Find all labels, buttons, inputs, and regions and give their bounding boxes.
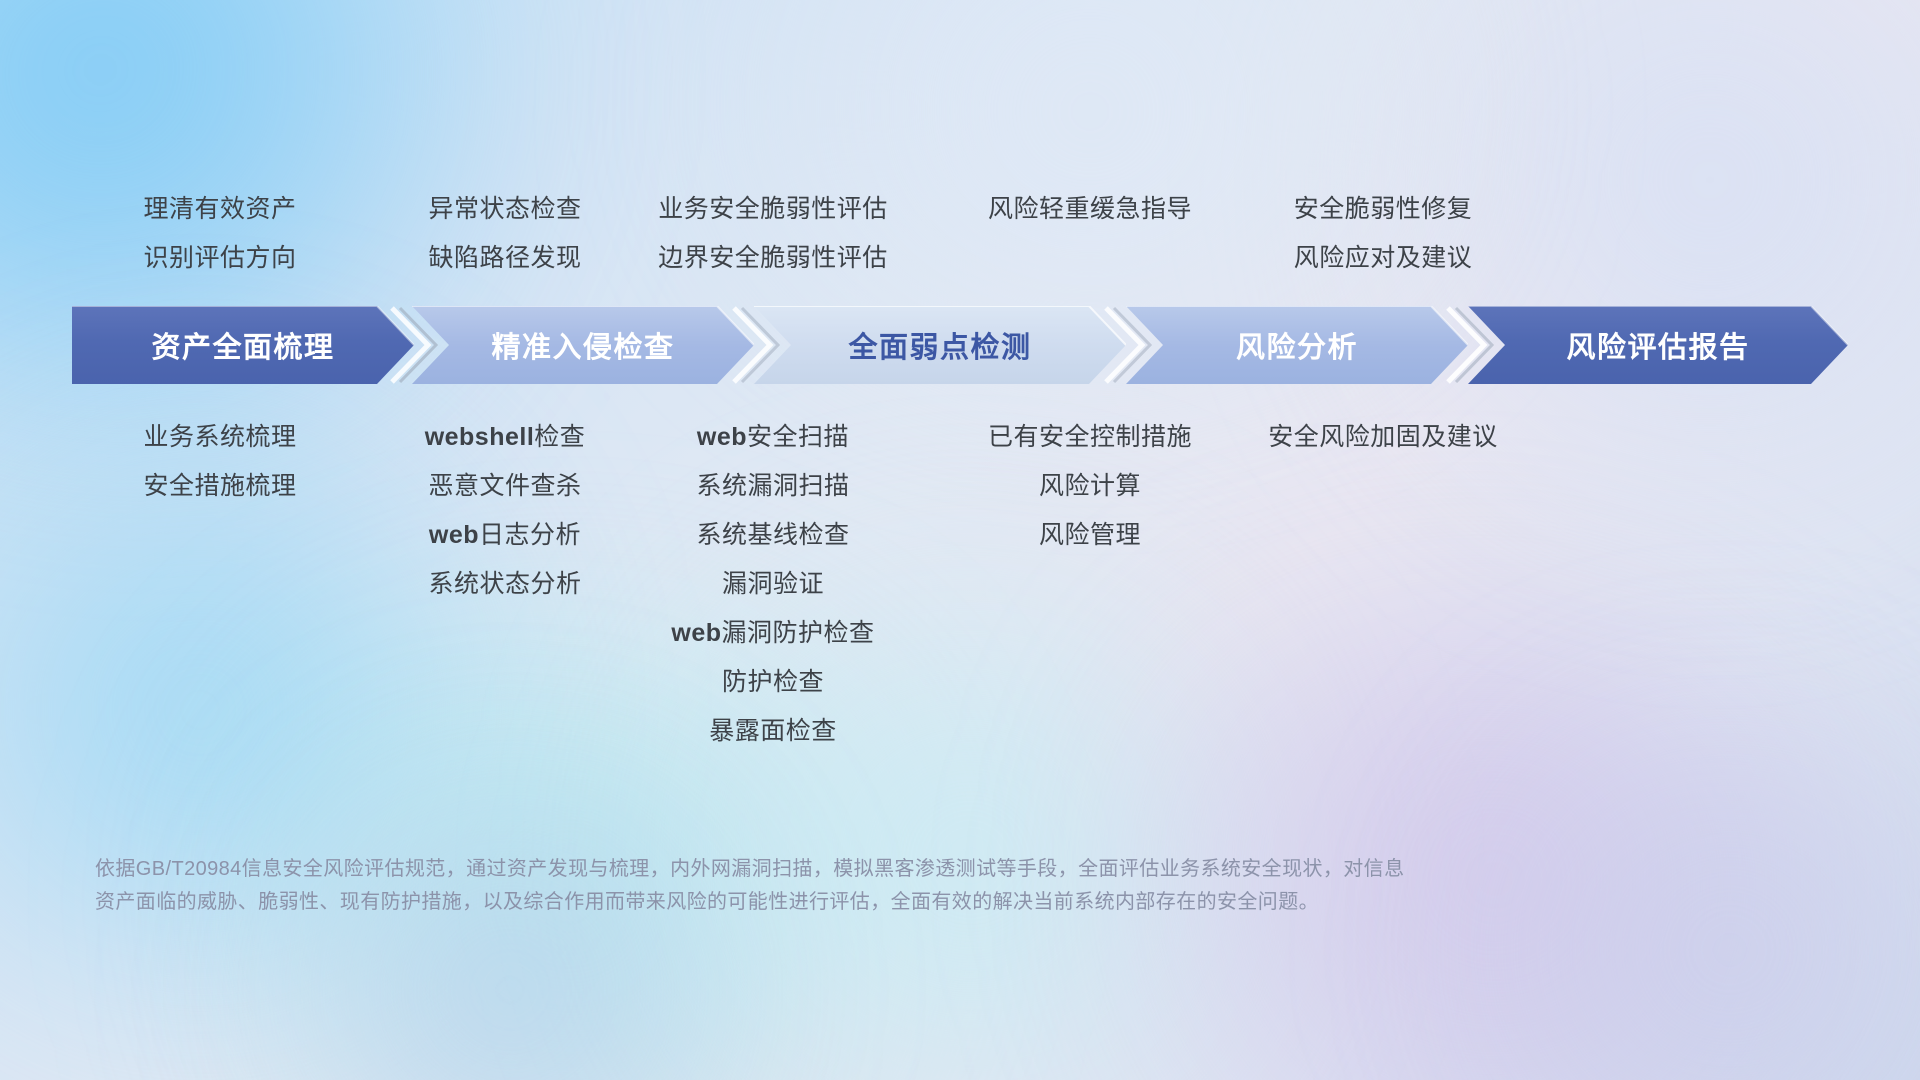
note-line: 业务系统梳理	[55, 413, 385, 462]
process-chevron-band: 资产全面梳理	[72, 306, 1848, 384]
stage-label: 精准入侵检查	[491, 324, 674, 366]
footer-description: 依据GB/T20984信息安全风险评估规范，通过资产发现与梳理，内外网漏洞扫描，…	[95, 853, 1515, 919]
note-line: web安全扫描	[608, 413, 938, 462]
note-line: 系统漏洞扫描	[608, 462, 938, 511]
footer-line: 依据GB/T20984信息安全风险评估规范，通过资产发现与梳理，内外网漏洞扫描，…	[95, 853, 1515, 886]
note-line: 漏洞验证	[608, 560, 938, 609]
top-notes-assessment-report: 安全脆弱性修复 风险应对及建议	[1218, 185, 1548, 283]
top-notes-asset-inventory: 理清有效资产 识别评估方向	[55, 185, 385, 283]
stage-chevron-weakness-detection[interactable]: 全面弱点检测	[754, 306, 1126, 384]
note-line: 安全措施梳理	[55, 462, 385, 511]
stage-chevron-intrusion-check[interactable]: 精准入侵检查	[412, 306, 754, 384]
note-line: 风险管理	[925, 511, 1255, 560]
stage-chevron-assessment-report[interactable]: 风险评估报告	[1468, 306, 1848, 384]
note-line: 边界安全脆弱性评估	[608, 234, 938, 283]
bottom-notes-asset-inventory: 业务系统梳理 安全措施梳理	[55, 413, 385, 511]
note-line: 防护检查	[608, 658, 938, 707]
stage-label: 风险分析	[1236, 324, 1358, 366]
stage-chevron-risk-analysis[interactable]: 风险分析	[1126, 306, 1468, 384]
bottom-notes-assessment-report: 安全风险加固及建议	[1218, 413, 1548, 462]
stage-label: 风险评估报告	[1566, 324, 1749, 366]
slide-canvas: 理清有效资产 识别评估方向 异常状态检查 缺陷路径发现 业务安全脆弱性评估 边界…	[0, 0, 1920, 1080]
bottom-notes-risk-analysis: 已有安全控制措施 风险计算 风险管理	[925, 413, 1255, 560]
note-line: 系统基线检查	[608, 511, 938, 560]
stage-label: 全面弱点检测	[848, 324, 1031, 366]
footer-line: 资产面临的威胁、脆弱性、现有防护措施，以及综合作用而带来风险的可能性进行评估，全…	[95, 886, 1515, 919]
note-line: 业务安全脆弱性评估	[608, 185, 938, 234]
note-line: 风险计算	[925, 462, 1255, 511]
note-line: 已有安全控制措施	[925, 413, 1255, 462]
stage-label: 资产全面梳理	[151, 324, 334, 366]
top-notes-risk-analysis: 风险轻重缓急指导	[925, 185, 1255, 234]
note-line: 风险应对及建议	[1218, 234, 1548, 283]
note-line: 安全脆弱性修复	[1218, 185, 1548, 234]
note-line: 风险轻重缓急指导	[925, 185, 1255, 234]
bottom-notes-weakness-detection: web安全扫描 系统漏洞扫描 系统基线检查 漏洞验证 web漏洞防护检查 防护检…	[608, 413, 938, 756]
stage-chevron-asset-inventory[interactable]: 资产全面梳理	[72, 306, 414, 384]
note-line: 识别评估方向	[55, 234, 385, 283]
note-line: 理清有效资产	[55, 185, 385, 234]
top-notes-weakness-detection: 业务安全脆弱性评估 边界安全脆弱性评估	[608, 185, 938, 283]
note-line: web漏洞防护检查	[608, 609, 938, 658]
note-line: 安全风险加固及建议	[1218, 413, 1548, 462]
note-line: 暴露面检查	[608, 707, 938, 756]
